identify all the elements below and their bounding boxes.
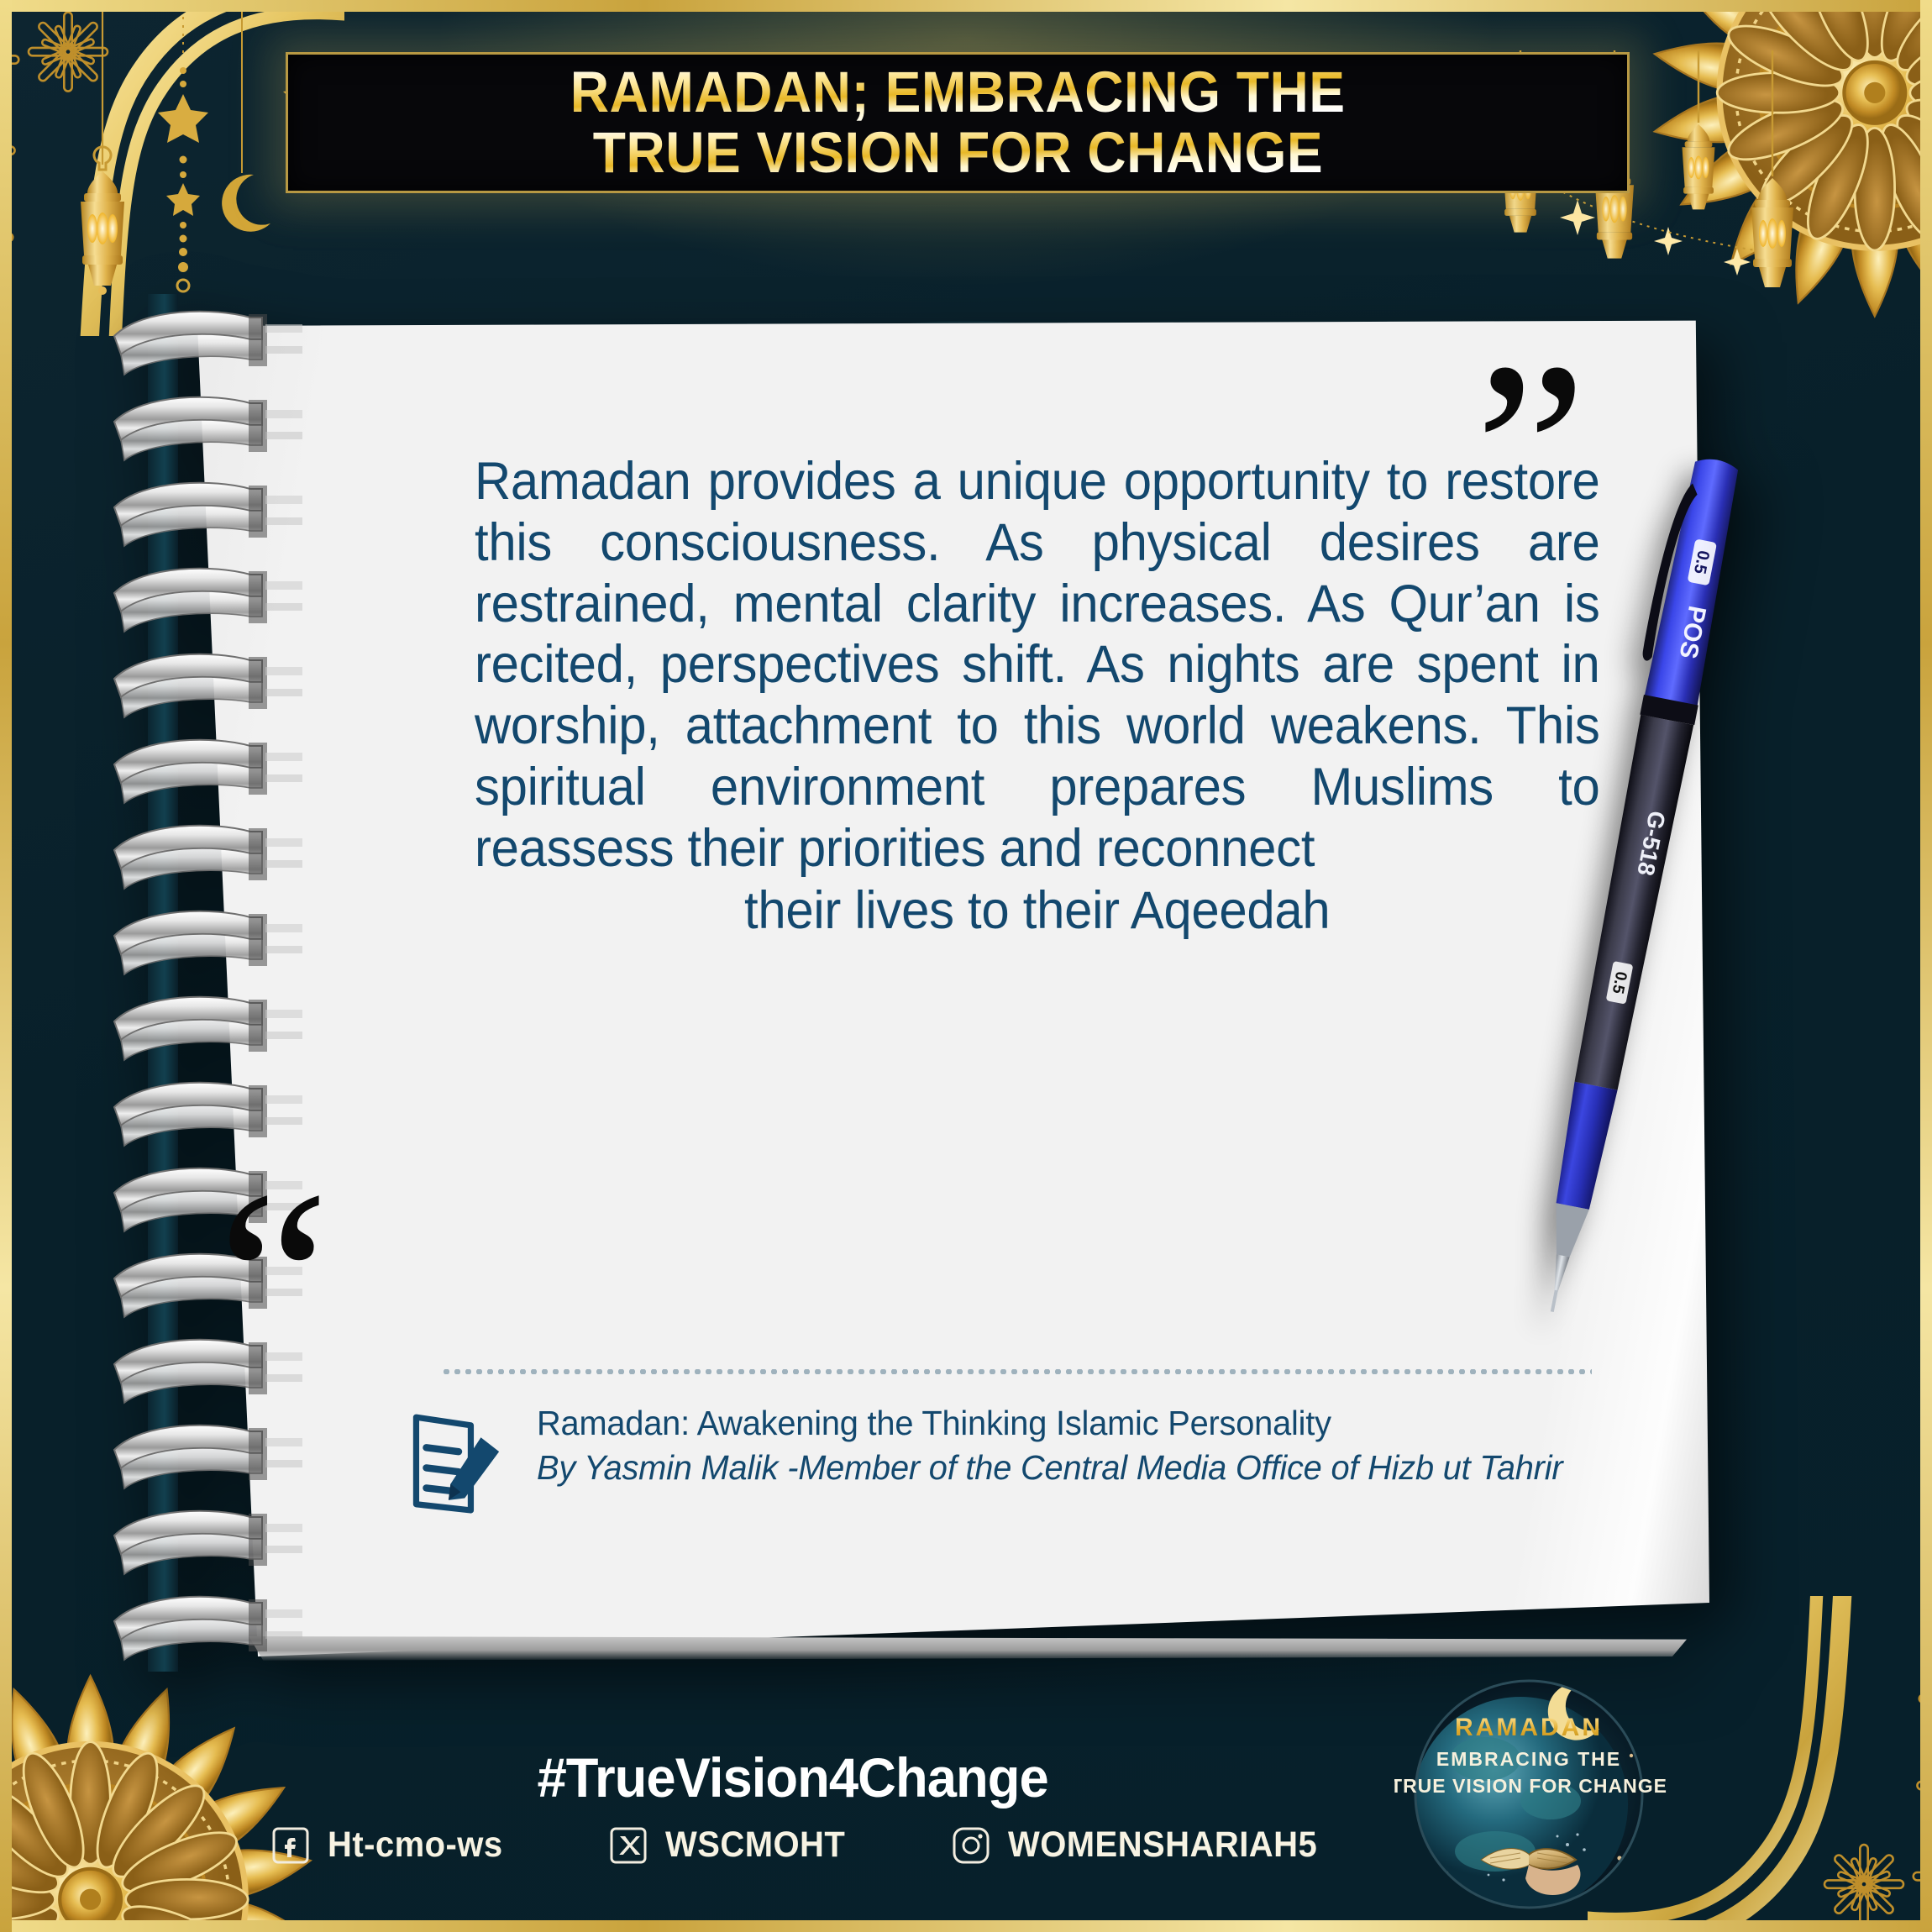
closing-quote-icon: ”	[1475, 324, 1587, 576]
credit-source: Ramadan: Awakening the Thinking Islamic …	[537, 1401, 1562, 1446]
credit-author: By Yasmin Malik -Member of the Central M…	[537, 1446, 1562, 1490]
campaign-badge: RAMADAN EMBRACING THE TRUE VISION FOR CH…	[1394, 1678, 1672, 1926]
social-instagram[interactable]: WOMENSHARIAH5	[953, 1824, 1341, 1866]
instagram-handle: WOMENSHARIAH5	[1008, 1824, 1317, 1866]
badge-line-2: EMBRACING THE	[1436, 1748, 1621, 1770]
social-facebook[interactable]: Ht-cmo-ws	[272, 1824, 516, 1866]
border-top	[0, 0, 1932, 12]
spiral-binding	[109, 294, 302, 1672]
quote-last-line: their lives to their Aqeedah	[475, 880, 1600, 942]
facebook-icon	[272, 1827, 309, 1864]
quote-main-text: Ramadan provides a unique opportunity to…	[475, 452, 1600, 878]
border-bottom	[0, 1920, 1932, 1932]
social-x-twitter[interactable]: WSCMOHT	[610, 1824, 858, 1866]
quote-text: Ramadan provides a unique opportunity to…	[475, 451, 1600, 942]
page-bottom-shadow	[249, 1636, 1687, 1662]
instagram-icon	[953, 1827, 990, 1864]
opening-quote-icon: “	[218, 1152, 329, 1404]
x-twitter-icon	[610, 1827, 647, 1864]
badge-line-3: TRUE VISION FOR CHANGE	[1394, 1775, 1667, 1797]
document-pencil-icon	[407, 1411, 510, 1520]
border-left	[0, 0, 12, 1932]
credit-block: Ramadan: Awakening the Thinking Islamic …	[407, 1401, 1667, 1520]
facebook-handle: Ht-cmo-ws	[328, 1824, 503, 1866]
dotted-divider	[441, 1369, 1592, 1374]
title-line-1: RAMADAN; EMBRACING THE	[570, 62, 1346, 123]
poster-canvas: RAMADAN; EMBRACING THE TRUE VISION FOR C…	[0, 0, 1932, 1932]
border-right	[1920, 0, 1932, 1932]
title-banner: RAMADAN; EMBRACING THE TRUE VISION FOR C…	[286, 52, 1630, 193]
x-twitter-handle: WSCMOHT	[665, 1824, 845, 1866]
notebook-card: ” Ramadan provides a unique opportunity …	[197, 312, 1709, 1656]
credit-text: Ramadan: Awakening the Thinking Islamic …	[537, 1401, 1562, 1520]
badge-line-1: RAMADAN	[1455, 1714, 1603, 1741]
title-line-2: TRUE VISION FOR CHANGE	[592, 123, 1322, 183]
